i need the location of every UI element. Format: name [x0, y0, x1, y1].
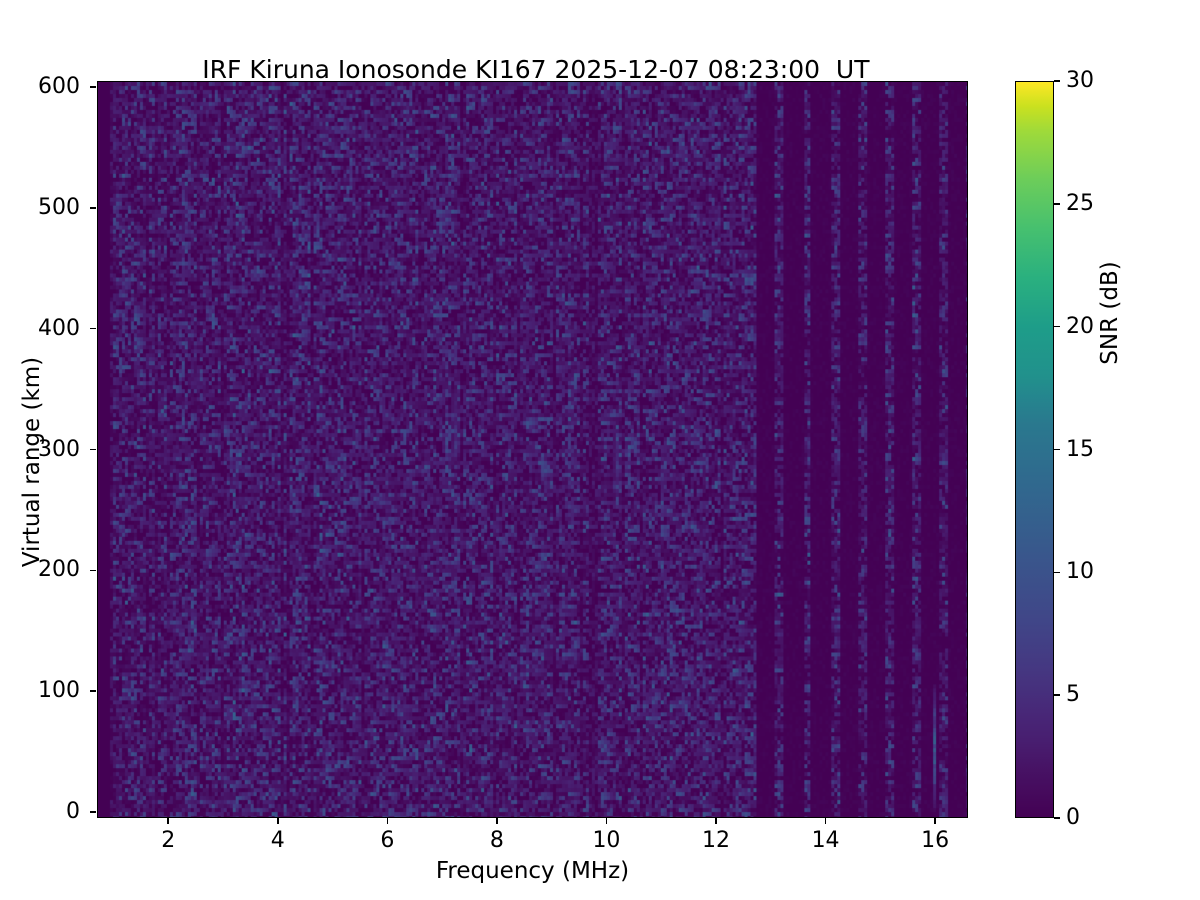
colorbar-label: SNR (dB) [1097, 163, 1123, 463]
x-tick-label: 10 [576, 828, 636, 854]
y-tick [90, 207, 96, 209]
colorbar-tick-label: 10 [1066, 559, 1094, 585]
colorbar-tick [1054, 326, 1060, 328]
y-tick [90, 570, 96, 572]
ionogram-figure: IRF Kiruna Ionosonde KI167 2025-12-07 08… [0, 0, 1200, 900]
x-tick-label: 14 [796, 828, 856, 854]
colorbar-tick-label: 5 [1066, 682, 1080, 708]
y-tick-label: 500 [0, 195, 80, 221]
figure-title-line1: IRF Kiruna Ionosonde KI167 2025-12-07 08… [202, 55, 869, 84]
colorbar-tick-label: 15 [1066, 437, 1094, 463]
x-axis-label: Frequency (MHz) [97, 858, 968, 884]
x-tick-label: 6 [357, 828, 417, 854]
x-tick [277, 818, 279, 824]
colorbar-tick [1054, 449, 1060, 451]
y-tick-label: 0 [0, 799, 80, 825]
x-tick [167, 818, 169, 824]
ionogram-axes [97, 81, 968, 818]
y-tick-label: 100 [0, 678, 80, 704]
ionogram-heatmap [98, 82, 967, 817]
y-tick [90, 690, 96, 692]
y-tick [90, 449, 96, 451]
x-tick-label: 12 [686, 828, 746, 854]
x-tick [387, 818, 389, 824]
x-tick [934, 818, 936, 824]
x-tick [715, 818, 717, 824]
y-tick-label: 600 [0, 74, 80, 100]
x-tick-label: 2 [138, 828, 198, 854]
y-axis-label: Virtual range (km) [19, 312, 45, 612]
colorbar-tick-label: 30 [1066, 68, 1094, 94]
x-tick [825, 818, 827, 824]
x-tick-label: 16 [905, 828, 965, 854]
colorbar-tick [1054, 80, 1060, 82]
x-tick-label: 4 [248, 828, 308, 854]
x-tick [606, 818, 608, 824]
colorbar-tick [1054, 203, 1060, 205]
y-tick [90, 328, 96, 330]
colorbar-tick [1054, 694, 1060, 696]
y-tick [90, 811, 96, 813]
y-tick [90, 86, 96, 88]
colorbar-tick-label: 25 [1066, 191, 1094, 217]
colorbar-tick-label: 20 [1066, 314, 1094, 340]
x-tick-label: 8 [467, 828, 527, 854]
colorbar-tick [1054, 572, 1060, 574]
colorbar-tick [1054, 817, 1060, 819]
colorbar [1015, 81, 1054, 818]
x-tick [496, 818, 498, 824]
colorbar-tick-label: 0 [1066, 805, 1080, 831]
